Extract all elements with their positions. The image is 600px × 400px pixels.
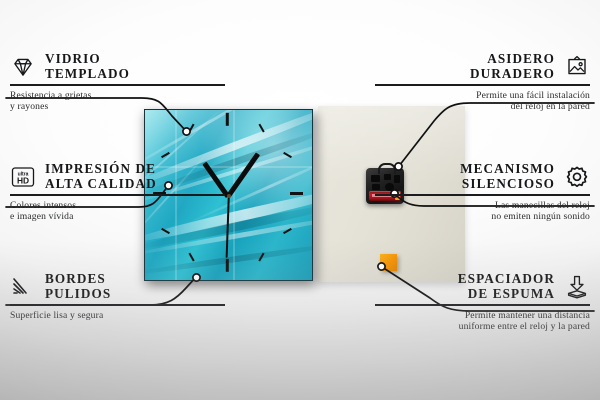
divider (10, 304, 225, 306)
divider (10, 194, 225, 196)
feature-subtitle: Superficie lisa y segura (10, 310, 225, 321)
divider (10, 84, 225, 86)
clock-tick-12 (226, 113, 229, 126)
divider (375, 194, 590, 196)
feature-title: ESPACIADORDE ESPUMA (458, 272, 555, 301)
feature-espaciador-de-espuma[interactable]: ESPACIADORDE ESPUMA Permite mantener una… (375, 272, 590, 333)
foam-spacer (380, 254, 397, 271)
feature-title: ASIDERODURADERO (470, 52, 555, 81)
infographic-canvas: VIDRIOTEMPLADO Resistencia a grietasy ra… (0, 0, 600, 400)
gear-icon (564, 164, 590, 190)
press-down-arrow-icon (564, 274, 590, 300)
feature-vidrio-templado[interactable]: VIDRIOTEMPLADO Resistencia a grietasy ra… (10, 52, 225, 113)
hanging-frame-icon (564, 54, 590, 80)
clock-center-hub (227, 194, 231, 198)
feature-subtitle: Las manecillas del relojno emiten ningún… (375, 200, 590, 223)
feature-subtitle: Permite mantener una distanciauniforme e… (375, 310, 590, 333)
divider (375, 304, 590, 306)
feature-title: MECANISMOSILENCIOSO (460, 162, 555, 191)
feature-subtitle: Permite una fácil instalacióndel reloj e… (375, 90, 590, 113)
feature-asidero-duradero[interactable]: ASIDERODURADERO Permite una fácil instal… (375, 52, 590, 113)
feature-impresion-alta-calidad[interactable]: ultra HD IMPRESIÓN DEALTA CALIDAD Colore… (10, 162, 225, 223)
feature-title: BORDESPULIDOS (45, 272, 111, 301)
clock-tick-6 (226, 259, 229, 272)
clock-tick-3 (290, 192, 303, 195)
ultra-hd-badge-icon: ultra HD (10, 164, 36, 190)
feature-subtitle: Colores intensose imagen vívida (10, 200, 225, 223)
feature-mecanismo-silencioso[interactable]: MECANISMOSILENCIOSO Las manecillas del r… (375, 162, 590, 223)
feature-title: VIDRIOTEMPLADO (45, 52, 130, 81)
polished-edges-icon (10, 274, 36, 300)
svg-text:HD: HD (17, 175, 29, 185)
diamond-icon (10, 54, 36, 80)
feature-subtitle: Resistencia a grietasy rayones (10, 90, 225, 113)
feature-title: IMPRESIÓN DEALTA CALIDAD (45, 162, 157, 191)
feature-bordes-pulidos[interactable]: BORDESPULIDOS Superficie lisa y segura (10, 272, 225, 321)
divider (375, 84, 590, 86)
